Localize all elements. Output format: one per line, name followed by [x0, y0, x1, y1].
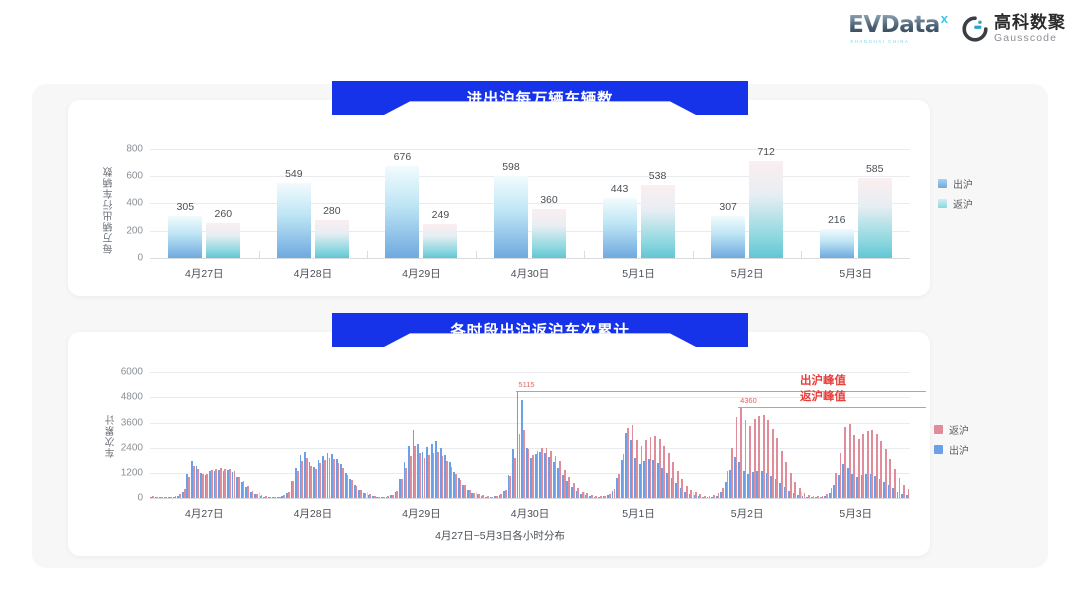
chart2-bar-ret[interactable] [342, 468, 344, 498]
chart2-bar-ret[interactable] [699, 494, 701, 498]
chart1-ytick-label: 600 [126, 171, 143, 182]
chart2-bar-ret[interactable] [414, 446, 416, 498]
gausscode-name-cn: 高科数聚 [994, 14, 1066, 31]
chart1-ytick-label: 200 [126, 225, 143, 236]
chart2-bar-ret[interactable] [645, 440, 647, 498]
chart2-bar-ret[interactable] [482, 495, 484, 498]
legend-label: 返沪 [949, 422, 969, 437]
gausscode-logo: 高科数聚 Gausscode [962, 14, 1066, 44]
chart2-peak-label: 出沪峰值 [800, 372, 846, 388]
chart1-bar-group: 676249 [367, 138, 476, 258]
chart2-bar-ret[interactable] [523, 430, 525, 498]
chart2-bar-ret[interactable] [193, 466, 195, 498]
chart2-bar-ret[interactable] [234, 471, 236, 498]
chart2-bar-ret[interactable] [650, 437, 652, 498]
chart2-xtick-label: 4月28日 [294, 506, 333, 521]
legend-swatch-icon [938, 199, 947, 208]
chart2-ytick-label: 6000 [121, 367, 143, 378]
chart2-bar-ret[interactable] [378, 497, 380, 498]
chart2-bar-ret[interactable] [301, 461, 303, 498]
chart2-bar-ret[interactable] [745, 420, 747, 498]
chart2-bar-ret[interactable] [369, 494, 371, 498]
chart2-bar-ret[interactable] [681, 479, 683, 498]
chart2-bar-ret[interactable] [885, 449, 887, 498]
chart2-bar-ret[interactable] [152, 496, 154, 498]
chart2-bar-ret[interactable] [609, 494, 611, 498]
chart2-bar-ret[interactable] [781, 451, 783, 498]
chart1-bar-out[interactable]: 307 [711, 216, 745, 258]
chart2-bar-ret[interactable] [672, 462, 674, 498]
chart2-ytick-label: 0 [137, 493, 143, 504]
legend-label: 返沪 [953, 196, 973, 211]
chart2-bar-ret[interactable] [188, 477, 190, 498]
chart1-bar-ret[interactable]: 585 [858, 178, 892, 258]
legend-swatch-icon [934, 445, 943, 454]
chart2-bar-ret[interactable] [668, 453, 670, 498]
chart2-bar-ret[interactable] [618, 474, 620, 498]
chart2-bar-ret[interactable] [740, 407, 742, 498]
chart1-xtick-label: 4月29日 [402, 266, 441, 281]
chart1-xtick-label: 5月1日 [622, 266, 655, 281]
chart1-bar-value: 538 [649, 170, 667, 182]
chart2-bar-ret[interactable] [813, 496, 815, 498]
chart1-bar-out[interactable]: 443 [603, 198, 637, 258]
chart1-xtick-label: 4月27日 [185, 266, 224, 281]
chart1-bar-value: 585 [866, 163, 884, 175]
chart2-bar-ret[interactable] [437, 452, 439, 498]
chart2-bar-ret[interactable] [727, 471, 729, 498]
chart2-bar-ret[interactable] [274, 497, 276, 498]
chart2-bar-ret[interactable] [351, 480, 353, 498]
chart2-bar-ret[interactable] [179, 494, 181, 498]
chart2-bar-ret[interactable] [419, 453, 421, 498]
chart1-bar-ret[interactable]: 260 [206, 223, 240, 258]
chart2-bar-ret[interactable] [478, 494, 480, 498]
chart2-bar-ret[interactable] [410, 456, 412, 498]
chart1-bar-out[interactable]: 676 [385, 166, 419, 258]
chart2-peak-label: 返沪峰值 [800, 388, 846, 404]
chart2-bar-ret[interactable] [785, 462, 787, 498]
chart2-bar-ret[interactable] [731, 448, 733, 498]
chart2-bar-ret[interactable] [433, 453, 435, 498]
chart2-xtick-label: 5月1日 [622, 506, 655, 521]
chart2-axis-title: 4月27日~5月3日各小时分布 [435, 528, 565, 543]
chart2-bar-ret[interactable] [324, 460, 326, 498]
chart2-bar-ret[interactable] [170, 497, 172, 498]
chart2-legend: 返沪出沪 [934, 422, 969, 457]
chart1-bar-value: 280 [323, 205, 341, 217]
evdata-tagline: SHANGHAI CHINA [850, 40, 909, 45]
chart2-bar-ret[interactable] [663, 446, 665, 498]
chart1-bar-value: 305 [177, 201, 195, 213]
chart2-bar-ret[interactable] [387, 496, 389, 498]
chart2-bar-ret[interactable] [310, 466, 312, 498]
chart2-bar-ret[interactable] [460, 480, 462, 498]
chart2-bar-ret[interactable] [840, 453, 842, 498]
chart1-gridline [150, 258, 910, 259]
chart1-y-axis-label: 每万辆出行车辆数 [102, 142, 117, 254]
chart1-bar-ret[interactable]: 280 [315, 220, 349, 258]
chart2-bar-ret[interactable] [428, 455, 430, 498]
chart2-bar-ret[interactable] [632, 425, 634, 498]
chart2-bar-ret[interactable] [586, 493, 588, 498]
chart2-bar-ret[interactable] [356, 486, 358, 498]
chart1-bar-value: 249 [432, 209, 450, 221]
chart2-bar-ret[interactable] [292, 481, 294, 498]
chart2-bar-ret[interactable] [776, 438, 778, 498]
chart2-bar-ret[interactable] [505, 490, 507, 498]
chart2-bar-ret[interactable] [894, 469, 896, 498]
chart2-bar-ret[interactable] [772, 429, 774, 498]
chart1-ytick-label: 400 [126, 198, 143, 209]
chart2-bar-ret[interactable] [853, 435, 855, 498]
chart2-bar-ret[interactable] [184, 489, 186, 498]
chart2-bar-ret[interactable] [500, 494, 502, 498]
chart1-tick-mark [801, 251, 802, 258]
chart1-xtick-label: 4月30日 [511, 266, 550, 281]
chart2-bar-ret[interactable] [763, 415, 765, 498]
chart1-legend: 出沪返沪 [938, 176, 973, 211]
chart2-bar-ret[interactable] [283, 495, 285, 498]
chart2-bar-ret[interactable] [754, 419, 756, 498]
evdata-logo: EVData x SHANGHAI CHINA [848, 14, 948, 45]
chart2-bar-ret[interactable] [496, 496, 498, 498]
chart2-bar-ret[interactable] [455, 474, 457, 498]
chart1-bar-ret[interactable]: 712 [749, 161, 783, 258]
chart2-bar-ret[interactable] [767, 420, 769, 498]
chart1-bar-value: 712 [757, 146, 775, 158]
chart1-bar-value: 216 [828, 214, 846, 226]
chart2-bar-ret[interactable] [550, 451, 552, 498]
chart1-tick-mark [367, 251, 368, 258]
evdata-wordmark: EVData [848, 14, 940, 37]
chart2-bar-ret[interactable] [161, 497, 163, 498]
chart2-bar-ret[interactable] [871, 430, 873, 498]
chart2-xtick-label: 5月2日 [731, 506, 764, 521]
chart2-bar-ret[interactable] [555, 456, 557, 498]
chart2-bar-ret[interactable] [175, 496, 177, 498]
chart2-bar-ret[interactable] [442, 456, 444, 498]
chart2-bar-ret[interactable] [252, 491, 254, 498]
chart2-bar-ret[interactable] [659, 439, 661, 498]
chart1-bar-group: 443538 [584, 138, 693, 258]
chart2-bar-ret[interactable] [401, 479, 403, 498]
chart1-bar-group: 549280 [259, 138, 368, 258]
chart2-bar-ret[interactable] [243, 481, 245, 498]
chart2-bar-ret[interactable] [469, 490, 471, 498]
chart2-bar-ret[interactable] [794, 482, 796, 498]
chart2-bar-ret[interactable] [568, 477, 570, 498]
chart2-bar-ret[interactable] [451, 467, 453, 498]
chart2-bar-ret[interactable] [808, 495, 810, 498]
chart2-bar-ret[interactable] [876, 434, 878, 498]
chart1-bar-out[interactable]: 216 [820, 229, 854, 258]
chart2-bar-ret[interactable] [197, 469, 199, 498]
chart2-bar-ret[interactable] [315, 469, 317, 498]
chart2-bar-ret[interactable] [713, 495, 715, 498]
chart2-tick-mark [801, 492, 802, 498]
chart1-legend-item[interactable]: 返沪 [938, 196, 973, 211]
chart2-bar-ret[interactable] [338, 463, 340, 498]
chart2-bar-ret[interactable] [446, 461, 448, 498]
chart2-tick-mark [259, 492, 260, 498]
chart2-bar-ret[interactable] [360, 490, 362, 498]
chart2-bar-ret[interactable] [319, 463, 321, 498]
chart1-bar-value: 260 [215, 208, 233, 220]
chart1-bar-ret[interactable]: 360 [532, 209, 566, 258]
chart2-bar-ret[interactable] [392, 495, 394, 498]
chart2-tick-mark [584, 492, 585, 498]
chart2-bar-ret[interactable] [238, 477, 240, 498]
chart2-bar-ret[interactable] [487, 496, 489, 498]
chart2-bar-ret[interactable] [623, 454, 625, 498]
chart2-bar-ret[interactable] [306, 458, 308, 498]
chart1-legend-item[interactable]: 出沪 [938, 176, 973, 191]
chart2-legend-item[interactable]: 出沪 [934, 442, 969, 457]
chart2-bar-ret[interactable] [686, 486, 688, 498]
chart1-bar-value: 307 [719, 201, 737, 213]
chart1-bar-ret[interactable]: 538 [641, 185, 675, 258]
chart2-bar-ret[interactable] [224, 469, 226, 498]
chart2-bar-ret[interactable] [396, 491, 398, 498]
chart2-bar-ret[interactable] [261, 495, 263, 498]
chart2-bar-ret[interactable] [519, 434, 521, 498]
chart2-y-axis-label: 车次累计 [104, 392, 119, 458]
chart2-bar-ret[interactable] [215, 469, 217, 498]
chart2-bar-ret[interactable] [532, 455, 534, 498]
chart2-bar-ret[interactable] [844, 427, 846, 498]
legend-label: 出沪 [949, 442, 969, 457]
chart2-bar-ret[interactable] [641, 446, 643, 498]
chart2-bar-ret[interactable] [491, 497, 493, 498]
chart2-ytick-label: 1200 [121, 467, 143, 478]
chart2-bar-ret[interactable] [817, 496, 819, 498]
chart2-bar-ret[interactable] [577, 488, 579, 498]
chart1-bar-value: 360 [540, 194, 558, 206]
chart2-ytick-label: 3600 [121, 417, 143, 428]
chart2-bar-ret[interactable] [347, 475, 349, 498]
chart2-bar-ret[interactable] [695, 492, 697, 498]
chart2-peak-value: 4360 [740, 396, 757, 405]
chart2-bar-ret[interactable] [514, 458, 516, 498]
chart2-bar-ret[interactable] [424, 458, 426, 498]
chart1-tick-mark [259, 251, 260, 258]
chart2-bar-ret[interactable] [718, 493, 720, 498]
chart2-tick-mark [476, 492, 477, 498]
chart2-bar-ret[interactable] [573, 483, 575, 498]
chart2-bar-ret[interactable] [835, 473, 837, 498]
chart1-ytick-label: 800 [126, 143, 143, 154]
chart2-gridline [150, 372, 910, 373]
chart2-bar-ret[interactable] [736, 417, 738, 498]
chart2-bar-ret[interactable] [297, 471, 299, 498]
chart1-xtick-label: 5月3日 [839, 266, 872, 281]
chart2-bar-ret[interactable] [604, 496, 606, 498]
chart2-peak-value: 5115 [518, 380, 534, 389]
chart1-tick-mark [476, 251, 477, 258]
chart2-bar-ret[interactable] [220, 468, 222, 498]
chart2-bar-ret[interactable] [528, 449, 530, 498]
logo-group: EVData x SHANGHAI CHINA 高科数聚 Gausscode [848, 14, 1066, 45]
chart2-ytick-label: 4800 [121, 392, 143, 403]
chart1-tick-mark [584, 251, 585, 258]
chart1-bar-group: 307712 [693, 138, 802, 258]
legend-swatch-icon [934, 425, 943, 434]
chart2-bar-ret[interactable] [329, 458, 331, 498]
chart2-gridline [150, 448, 910, 449]
chart2-ytick-label: 2400 [121, 442, 143, 453]
chart2-bar-ret[interactable] [822, 496, 824, 498]
chart1-bar-out[interactable]: 549 [277, 183, 311, 258]
chart2-gridline [150, 498, 910, 499]
chart1-bar-group: 598360 [476, 138, 585, 258]
chart2-bar-ret[interactable] [722, 488, 724, 498]
chart2-bar-ret[interactable] [614, 489, 616, 498]
chart2-bar-ret[interactable] [709, 496, 711, 498]
chart2-peak-line-out [516, 391, 926, 392]
chart2-bar-ret[interactable] [595, 496, 597, 498]
chart2-bar-ret[interactable] [288, 492, 290, 498]
chart2-xtick-label: 4月27日 [185, 506, 224, 521]
evdata-logo-row: EVData x [848, 14, 948, 37]
chart2-plot-area: 012002400360048006000车次累计4月27日4月28日4月29日… [150, 366, 910, 498]
chart2-bar-ret[interactable] [867, 431, 869, 498]
chart2-bar-ret[interactable] [804, 493, 806, 498]
chart1-bar-value: 676 [394, 151, 412, 163]
chart2-bar-ret[interactable] [559, 461, 561, 498]
chart1-plot-area: 0200400600800每万辆出行车辆数3052604月27日5492804月… [150, 138, 910, 258]
chart1-bar-value: 443 [611, 183, 629, 195]
gausscode-mark-icon [962, 16, 988, 42]
chart2-bar-ret[interactable] [758, 416, 760, 498]
chart2-bar-ret[interactable] [166, 497, 168, 498]
evdata-superscript-icon: x [941, 12, 948, 25]
gausscode-text: 高科数聚 Gausscode [994, 14, 1066, 44]
chart2-bar-ret[interactable] [704, 496, 706, 498]
chart2-bar-ret[interactable] [591, 495, 593, 498]
chart2-bar-ret[interactable] [157, 497, 159, 498]
chart1-bar-out[interactable]: 598 [494, 176, 528, 258]
chart1-bar-group: 216585 [801, 138, 910, 258]
chart1-bar-value: 549 [285, 168, 303, 180]
chart2-bar-ret[interactable] [270, 497, 272, 498]
chart1-ytick-label: 0 [137, 253, 143, 264]
chart2-bar-ret[interactable] [899, 478, 901, 498]
chart2-bar-ret[interactable] [862, 434, 864, 498]
chart2-bar-ret[interactable] [333, 459, 335, 498]
chart2-bar-ret[interactable] [229, 469, 231, 498]
chart2-tick-mark [693, 492, 694, 498]
legend-swatch-icon [938, 179, 947, 188]
chart2-bar-ret[interactable] [826, 494, 828, 498]
chart2-tick-mark [367, 492, 368, 498]
chart2-bar-ret[interactable] [383, 497, 385, 498]
chart1-bar-group: 305260 [150, 138, 259, 258]
chart2-bar-ret[interactable] [627, 428, 629, 498]
chart2-xtick-label: 4月30日 [511, 506, 550, 521]
gausscode-name-en: Gausscode [994, 32, 1066, 44]
chart2-gridline [150, 423, 910, 424]
chart2-bar-ret[interactable] [247, 486, 249, 498]
chart2-bar-ret[interactable] [790, 473, 792, 498]
chart2-bar-ret[interactable] [903, 485, 905, 498]
chart2-bar-ret[interactable] [636, 440, 638, 498]
chart2-bar-ret[interactable] [858, 439, 860, 498]
chart2-bar-ret[interactable] [564, 470, 566, 498]
chart1-tick-mark [693, 251, 694, 258]
chart2-bar-ret[interactable] [541, 448, 543, 498]
legend-label: 出沪 [953, 176, 973, 191]
chart1-bar-ret[interactable]: 249 [423, 224, 457, 258]
chart2-bar-ret[interactable] [279, 497, 281, 498]
chart1-xtick-label: 4月28日 [294, 266, 333, 281]
chart2-peak-line-ret [738, 407, 926, 408]
chart2-bar-ret[interactable] [849, 424, 851, 498]
chart2-bar-ret[interactable] [880, 441, 882, 498]
chart2-bar-ret[interactable] [654, 436, 656, 498]
chart1-xtick-label: 5月2日 [731, 266, 764, 281]
chart2-xtick-label: 4月29日 [402, 506, 441, 521]
chart2-bar-ret[interactable] [265, 496, 267, 498]
chart2-bar-ret[interactable] [464, 485, 466, 498]
chart2-bar-ret[interactable] [749, 426, 751, 498]
page-header: EVData x SHANGHAI CHINA 高科数聚 Gausscode [0, 0, 1080, 62]
chart2-bar-ret[interactable] [889, 459, 891, 498]
chart2-bar-ret[interactable] [677, 471, 679, 498]
chart2-bar-ret[interactable] [405, 468, 407, 498]
chart1-bar-out[interactable]: 305 [168, 216, 202, 258]
chart1-bar-value: 598 [502, 161, 520, 173]
chart2-bar-ret[interactable] [600, 496, 602, 498]
chart2-legend-item[interactable]: 返沪 [934, 422, 969, 437]
chart2-bar-ret[interactable] [831, 488, 833, 498]
chart2-bar-ret[interactable] [546, 448, 548, 498]
chart2-bar-ret[interactable] [211, 470, 213, 498]
chart2-gridline [150, 397, 910, 398]
chart2-bar-ret[interactable] [206, 474, 208, 498]
chart2-bar-ret[interactable] [908, 489, 910, 498]
chart2-bar-ret[interactable] [537, 451, 539, 498]
chart2-bar-ret[interactable] [509, 476, 511, 498]
chart2-xtick-label: 5月3日 [839, 506, 872, 521]
chart2-bar-ret[interactable] [374, 496, 376, 498]
chart2-bar-ret[interactable] [202, 474, 204, 498]
